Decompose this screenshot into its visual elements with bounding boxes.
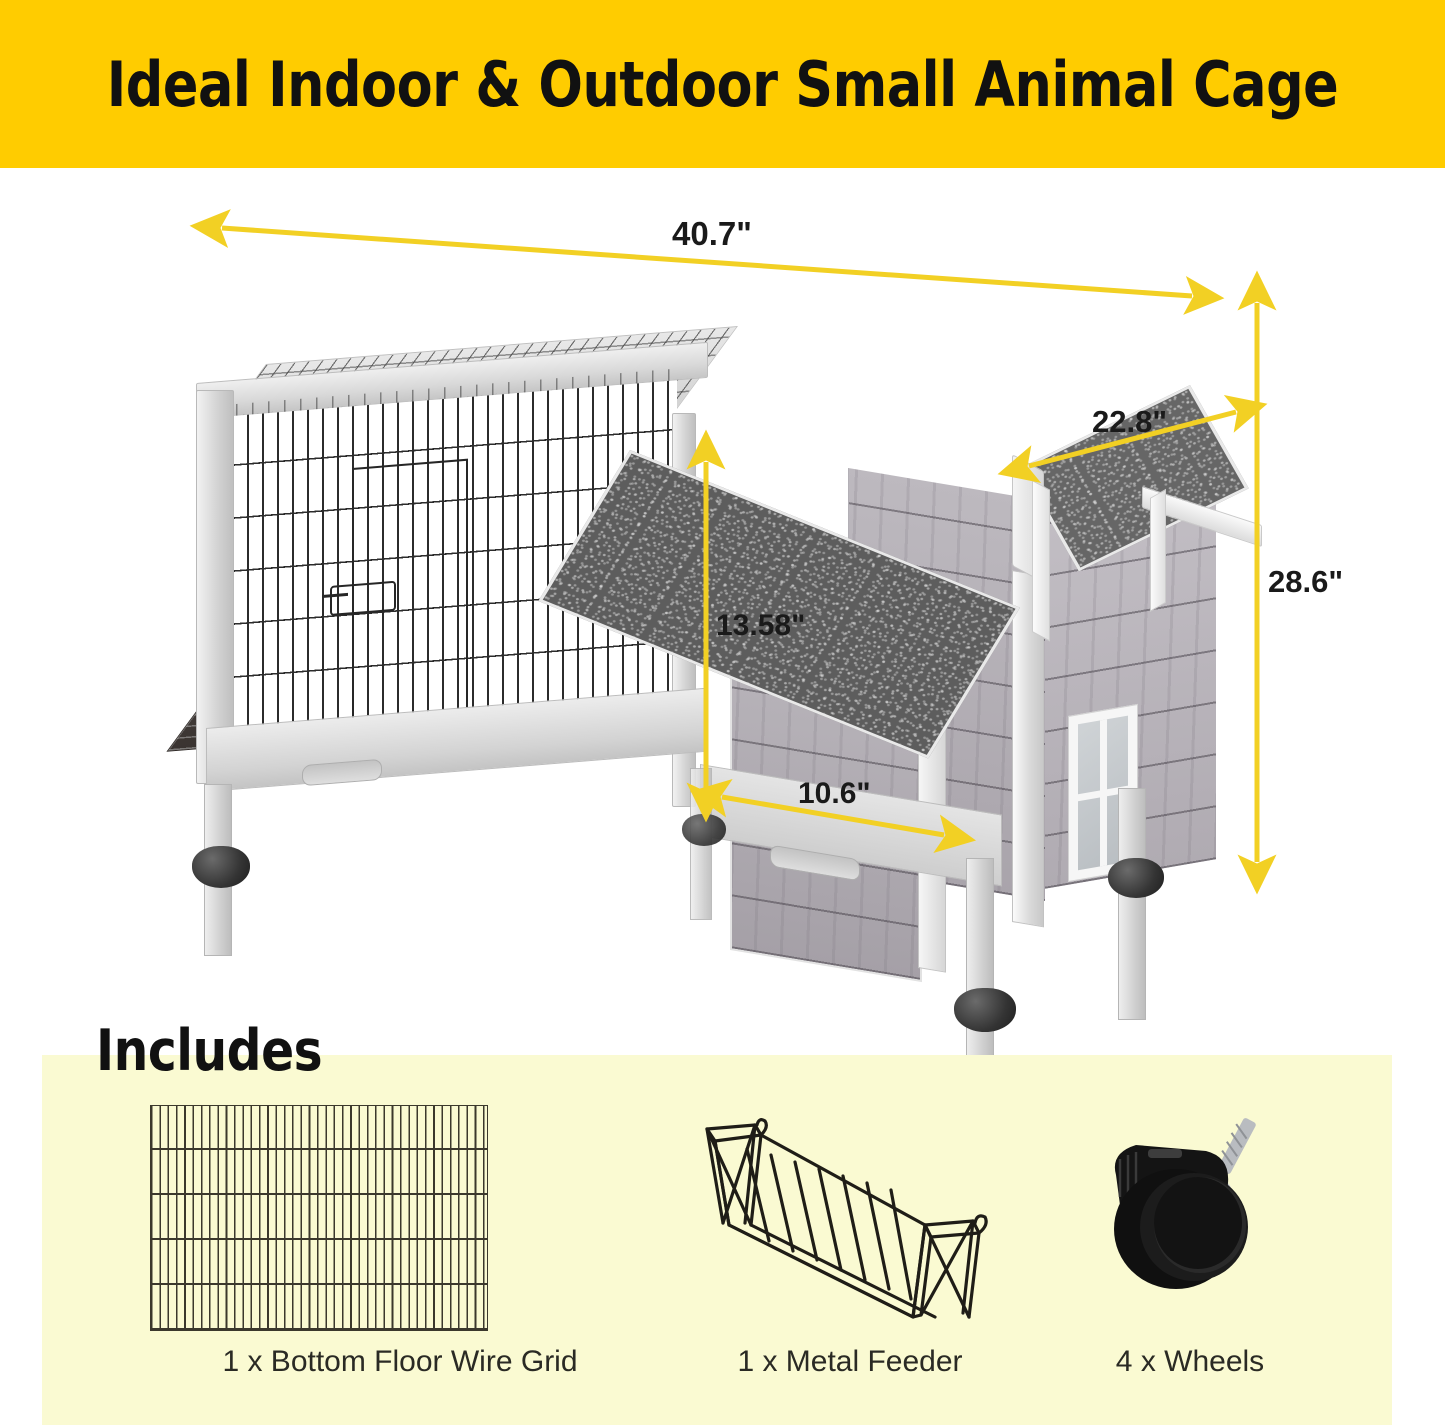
product-image-hutch [0, 168, 1445, 1018]
include-item: 1 x Bottom Floor Wire Grid [150, 1105, 650, 1379]
include-item: 4 x Wheels [1030, 1105, 1350, 1379]
gable-trim-left [1032, 480, 1050, 642]
caster-wheel-front-left [192, 846, 250, 888]
include-item-label: 4 x Wheels [1030, 1345, 1350, 1379]
page-title: Ideal Indoor & Outdoor Small Animal Cage [43, 0, 1401, 168]
caster-wheel-front-right [954, 988, 1016, 1032]
includes-heading: Includes [96, 1018, 322, 1084]
include-item: 1 x Metal Feeder [640, 1105, 1060, 1379]
caster-wheel-back-left [682, 814, 726, 846]
caster-wheel-back-right [1108, 858, 1164, 898]
include-item-label: 1 x Bottom Floor Wire Grid [150, 1345, 650, 1379]
header-banner: Ideal Indoor & Outdoor Small Animal Cage [0, 0, 1445, 168]
leg-back-right [1118, 788, 1146, 1020]
wire-grid-icon [150, 1105, 650, 1331]
gable-trim-right [1150, 489, 1166, 612]
run-post-left [196, 390, 234, 784]
caster-wheel-icon [1080, 1105, 1300, 1331]
product-figure [0, 168, 1445, 1018]
include-item-label: 1 x Metal Feeder [640, 1345, 1060, 1379]
metal-feeder-icon [685, 1105, 1015, 1331]
run-door-latch [330, 581, 396, 616]
